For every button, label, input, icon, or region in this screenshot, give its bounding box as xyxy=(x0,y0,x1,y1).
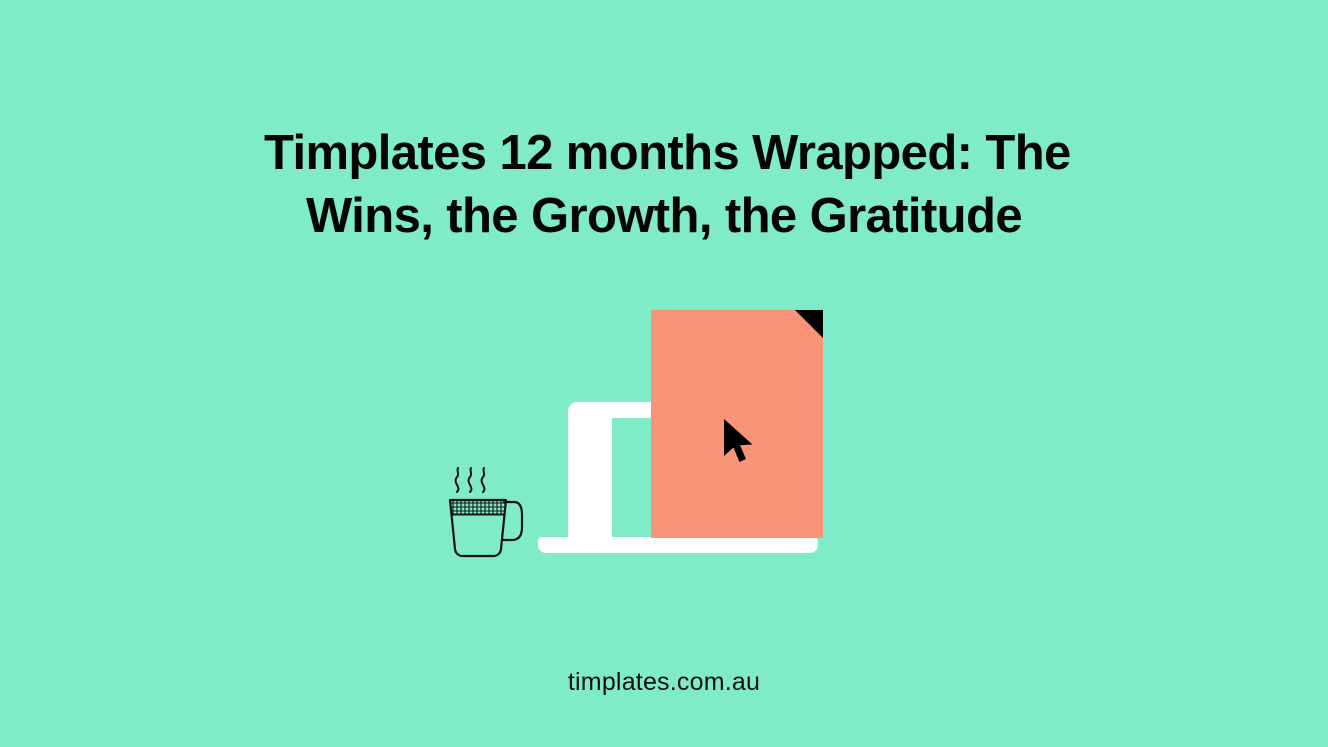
footer-website-url: timplates.com.au xyxy=(0,668,1328,697)
coffee-mug-icon xyxy=(440,465,536,560)
slide-canvas: Timplates 12 months Wrapped: The Wins, t… xyxy=(0,0,1328,747)
document-folded-corner-icon xyxy=(795,310,823,338)
cursor-arrow-icon xyxy=(722,418,756,464)
laptop-base xyxy=(538,537,818,553)
laptop-document-coffee-illustration xyxy=(0,0,1328,747)
